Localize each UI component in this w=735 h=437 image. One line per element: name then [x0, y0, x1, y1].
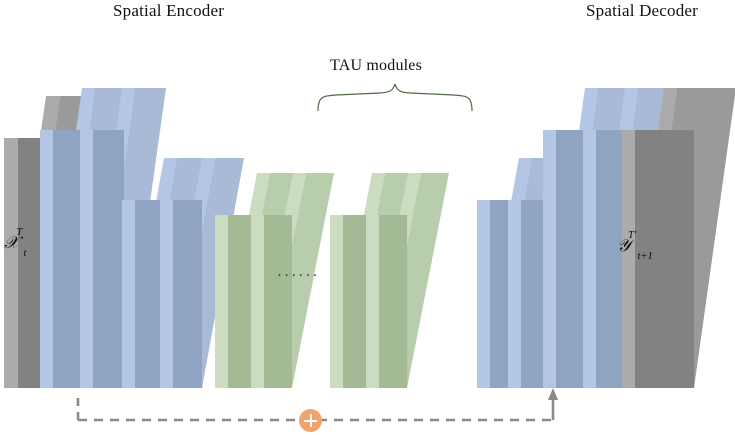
- encoder-title: Spatial Encoder: [113, 1, 224, 21]
- output-tensor-label: 𝒴T′t+1: [617, 236, 654, 258]
- decoder-conv-2-side: [508, 200, 521, 388]
- decoder-conv-4-side: [583, 130, 596, 388]
- encoder-conv-2-side: [80, 130, 93, 388]
- encoder-conv-1-side: [40, 130, 53, 388]
- tau-module-1b-side: [251, 215, 264, 388]
- tau-module-1a-side: [215, 215, 228, 388]
- tau-module-2b-face: [379, 215, 407, 388]
- tau-ellipsis: ······: [277, 268, 320, 285]
- decoder-conv-1-side: [477, 200, 490, 388]
- plus-horizontal-stroke: [304, 420, 317, 422]
- encoder-conv-4-side: [160, 200, 173, 388]
- architecture-diagram: Spatial Encoder Spatial Decoder TAU modu…: [0, 0, 735, 437]
- decoder-title: Spatial Decoder: [586, 1, 698, 21]
- output-tensor-slab-side: [622, 130, 635, 388]
- tau-modules-title: TAU modules: [330, 57, 422, 75]
- input-tensor-superscript: T: [16, 227, 22, 238]
- input-tensor-slab-side: [4, 138, 18, 388]
- tau-grouping-brace: [316, 84, 474, 112]
- output-tensor-subscript: t+1: [637, 251, 652, 262]
- decoder-conv-3-face: [556, 130, 585, 388]
- decoder-conv-3-side: [543, 130, 556, 388]
- tau-module-2b-side: [366, 215, 379, 388]
- encoder-conv-1-face: [53, 130, 82, 388]
- tau-module-1b-face: [264, 215, 292, 388]
- tau-module-2b: [366, 173, 449, 388]
- input-tensor-label: 𝒳Tt: [4, 233, 27, 255]
- skip-arrowhead-icon: [548, 388, 558, 400]
- encoder-conv-2-face: [93, 130, 124, 388]
- encoder-conv-3-side: [122, 200, 135, 388]
- input-tensor-subscript: t: [23, 248, 26, 259]
- decoder-conv-4-face: [596, 130, 625, 388]
- output-tensor-superscript: T′: [628, 230, 636, 241]
- skip-add-operator: [299, 409, 322, 432]
- residual-skip-connection: [0, 382, 735, 437]
- tau-module-2a-side: [330, 215, 343, 388]
- encoder-conv-4-face: [173, 200, 202, 388]
- input-tensor-slab-face: [18, 138, 42, 388]
